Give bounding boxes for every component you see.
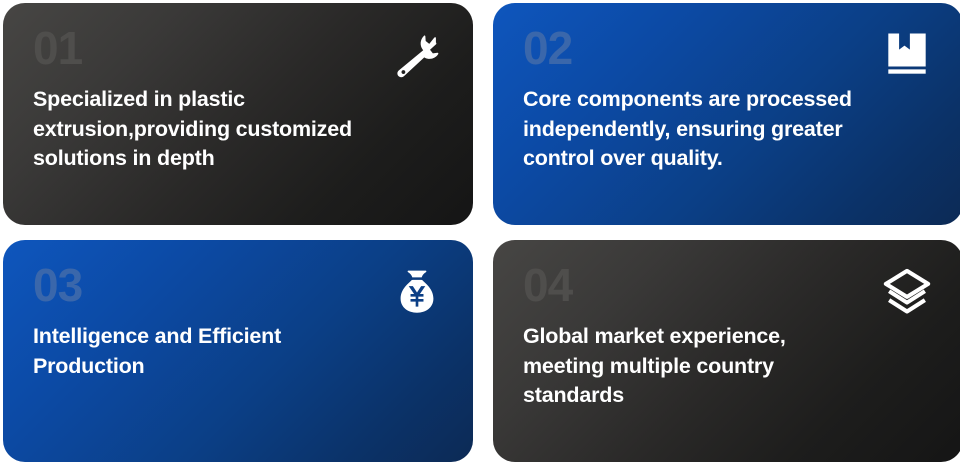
feature-card-03[interactable]: 03 Intelligence and Efficient Production <box>3 240 473 462</box>
layers-stack-icon <box>881 266 933 318</box>
card-number-02: 02 <box>523 25 933 71</box>
card-headline-01: Specialized in plastic extrusion,providi… <box>33 85 443 174</box>
card-number-01: 01 <box>33 25 443 71</box>
card-number-03: 03 <box>33 262 443 308</box>
book-bookmark-icon <box>881 29 933 81</box>
card-headline-02: Core components are processed independen… <box>523 85 933 174</box>
feature-card-02[interactable]: 02 Core components are processed indepen… <box>493 3 960 225</box>
feature-card-grid: 01 Specialized in plastic extrusion,prov… <box>0 0 960 459</box>
card-headline-03: Intelligence and Efficient Production <box>33 322 443 381</box>
card-headline-04: Global market experience, meeting multip… <box>523 322 933 411</box>
feature-card-04[interactable]: 04 Global market experience, meeting mul… <box>493 240 960 462</box>
wrench-icon <box>391 29 443 81</box>
money-bag-yen-icon <box>391 266 443 318</box>
feature-card-01[interactable]: 01 Specialized in plastic extrusion,prov… <box>3 3 473 225</box>
card-number-04: 04 <box>523 262 933 308</box>
